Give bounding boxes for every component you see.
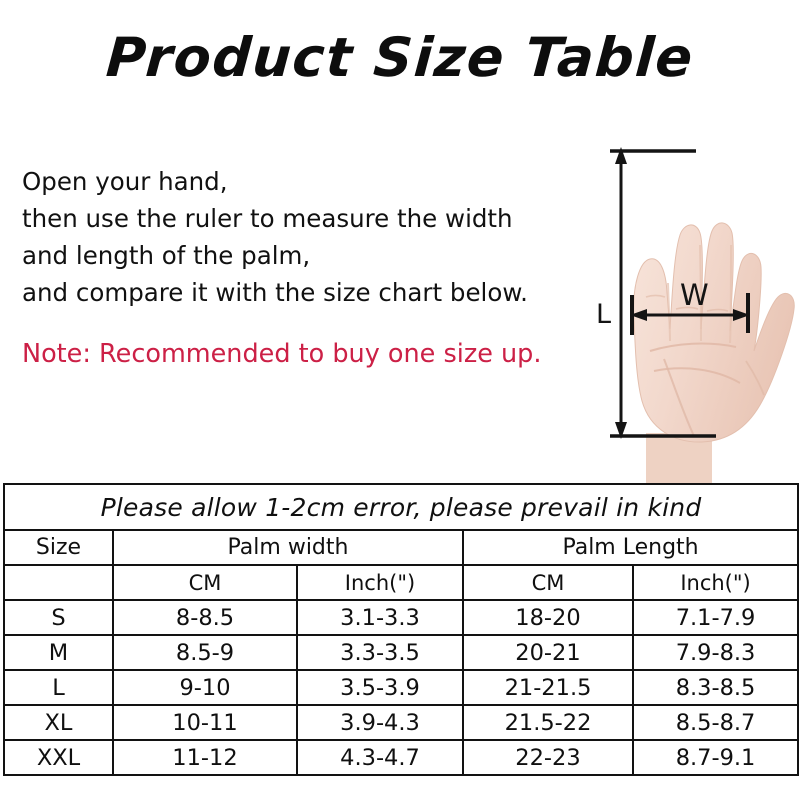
hand-measurement-figure: L W: [588, 133, 800, 485]
cell-length-inch: 7.1-7.9: [633, 600, 798, 635]
cell-width-inch: 3.3-3.5: [297, 635, 463, 670]
cell-length-cm: 21-21.5: [463, 670, 633, 705]
width-dimension-label: W: [680, 281, 709, 310]
table-row: XXL 11-12 4.3-4.7 22-23 8.7-9.1: [4, 740, 798, 775]
page-title: Product Size Table: [0, 26, 800, 89]
cell-length-inch: 8.3-8.5: [633, 670, 798, 705]
cell-length-cm: 18-20: [463, 600, 633, 635]
cell-width-cm: 10-11: [113, 705, 297, 740]
header-palm-length: Palm Length: [463, 530, 798, 565]
table-row-group-headers: Size Palm width Palm Length: [4, 530, 798, 565]
cell-length-cm: 20-21: [463, 635, 633, 670]
cell-size: L: [4, 670, 113, 705]
cell-length-cm: 22-23: [463, 740, 633, 775]
length-dimension-label: L: [596, 301, 611, 328]
cell-size: S: [4, 600, 113, 635]
cell-width-cm: 8-8.5: [113, 600, 297, 635]
cell-width-inch: 3.5-3.9: [297, 670, 463, 705]
cell-size: XL: [4, 705, 113, 740]
instruction-line-4: and compare it with the size chart below…: [22, 274, 582, 311]
cell-width-cm: 9-10: [113, 670, 297, 705]
table-row: S 8-8.5 3.1-3.3 18-20 7.1-7.9: [4, 600, 798, 635]
table-row-unit-headers: CM Inch(") CM Inch("): [4, 565, 798, 600]
cell-size: M: [4, 635, 113, 670]
instruction-line-3: and length of the palm,: [22, 237, 582, 274]
instruction-line-2: then use the ruler to measure the width: [22, 200, 582, 237]
cell-length-inch: 7.9-8.3: [633, 635, 798, 670]
cell-length-cm: 21.5-22: [463, 705, 633, 740]
cell-width-inch: 3.9-4.3: [297, 705, 463, 740]
table-row: XL 10-11 3.9-4.3 21.5-22 8.5-8.7: [4, 705, 798, 740]
header-length-cm: CM: [463, 565, 633, 600]
header-width-cm: CM: [113, 565, 297, 600]
cell-width-inch: 4.3-4.7: [297, 740, 463, 775]
table-row: L 9-10 3.5-3.9 21-21.5 8.3-8.5: [4, 670, 798, 705]
table-error-note: Please allow 1-2cm error, please prevail…: [4, 484, 798, 530]
header-size: Size: [4, 530, 113, 565]
size-table-container: Please allow 1-2cm error, please prevail…: [3, 483, 797, 776]
cell-width-inch: 3.1-3.3: [297, 600, 463, 635]
cell-size: XXL: [4, 740, 113, 775]
instruction-line-1: Open your hand,: [22, 163, 582, 200]
cell-length-inch: 8.7-9.1: [633, 740, 798, 775]
cell-width-cm: 8.5-9: [113, 635, 297, 670]
header-size-spacer: [4, 565, 113, 600]
header-width-inch: Inch("): [297, 565, 463, 600]
table-row: M 8.5-9 3.3-3.5 20-21 7.9-8.3: [4, 635, 798, 670]
cell-length-inch: 8.5-8.7: [633, 705, 798, 740]
cell-width-cm: 11-12: [113, 740, 297, 775]
instructions-block: Open your hand, then use the ruler to me…: [22, 163, 582, 370]
note-text: Note: Recommended to buy one size up.: [22, 338, 582, 370]
size-table: Please allow 1-2cm error, please prevail…: [3, 483, 799, 776]
header-palm-width: Palm width: [113, 530, 463, 565]
header-length-inch: Inch("): [633, 565, 798, 600]
table-row-note: Please allow 1-2cm error, please prevail…: [4, 484, 798, 530]
